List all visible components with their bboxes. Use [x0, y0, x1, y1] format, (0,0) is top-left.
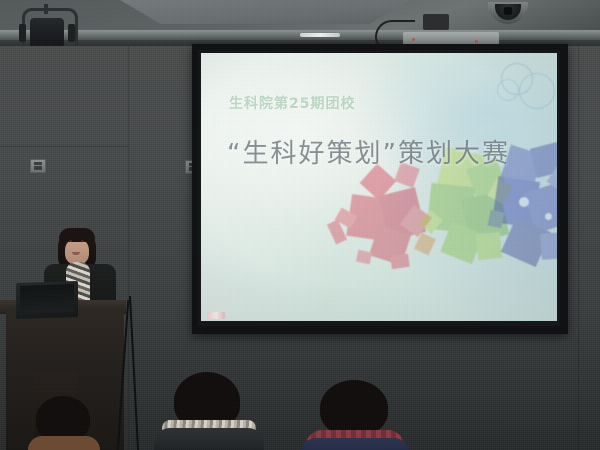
audience-member-podium-side [28, 396, 100, 450]
screen-corner-label [207, 312, 225, 319]
dome-security-camera-icon [488, 2, 528, 28]
ceiling-panel-edge [120, 0, 410, 24]
audience-member-center [300, 380, 410, 450]
projection-screen: 生科院第25期团校 “生科好策划”策划大赛 [201, 53, 557, 321]
laptop-screen [20, 284, 74, 314]
lecture-hall-photo: 生科院第25期团校 “生科好策划”策划大赛 [0, 0, 600, 450]
presenter-bangs [59, 228, 95, 242]
slide-subtitle: 生科院第25期团校 [229, 93, 355, 113]
ceiling-light-strip [300, 33, 340, 37]
slide-title: “生科好策划”策划大赛 [227, 133, 510, 170]
podium-laptop [16, 281, 78, 319]
audience-member-left [150, 372, 266, 450]
wall-power-outlet [30, 159, 46, 173]
projector-mount [423, 14, 449, 30]
